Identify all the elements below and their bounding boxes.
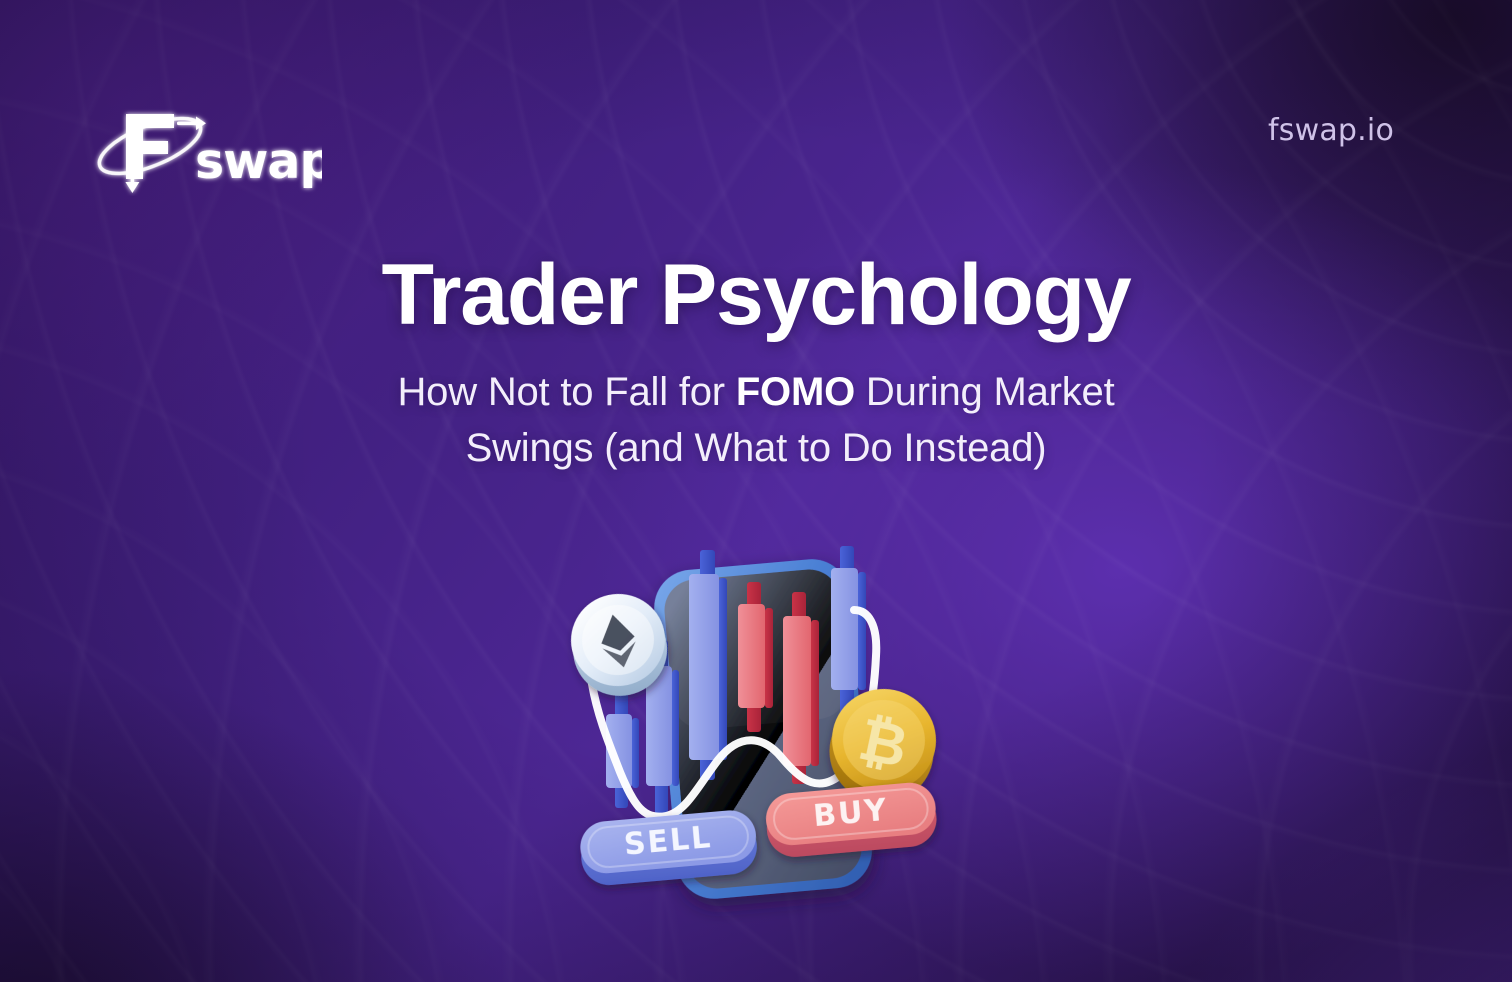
trading-illustration: ₿ SELL BUY xyxy=(558,528,968,928)
candle-bear-2 xyxy=(783,592,819,784)
hero-text-block: Trader Psychology How Not to Fall for FO… xyxy=(0,252,1512,476)
subtitle-line-2: Swings (and What to Do Instead) xyxy=(0,420,1512,476)
subtitle-line-1: How Not to Fall for FOMO During Market xyxy=(0,364,1512,420)
subtitle-emphasis-fomo: FOMO xyxy=(736,370,855,414)
poster-canvas: swap fswap.io Trader Psychology How Not … xyxy=(0,0,1512,982)
candle-bull-3 xyxy=(689,550,727,780)
subtitle-text-before: How Not to Fall for xyxy=(397,370,735,414)
fswap-logo[interactable]: swap xyxy=(92,96,322,196)
page-subtitle: How Not to Fall for FOMO During Market S… xyxy=(0,364,1512,476)
subtitle-text-after: During Market xyxy=(855,370,1115,414)
site-watermark: fswap.io xyxy=(1268,113,1394,148)
logo-wordmark: swap xyxy=(195,133,322,190)
fswap-logo-icon: swap xyxy=(92,96,322,196)
page-title: Trader Psychology xyxy=(0,252,1512,340)
buy-button-label: BUY xyxy=(812,793,890,834)
trading-illustration-svg: ₿ SELL BUY xyxy=(558,528,968,928)
